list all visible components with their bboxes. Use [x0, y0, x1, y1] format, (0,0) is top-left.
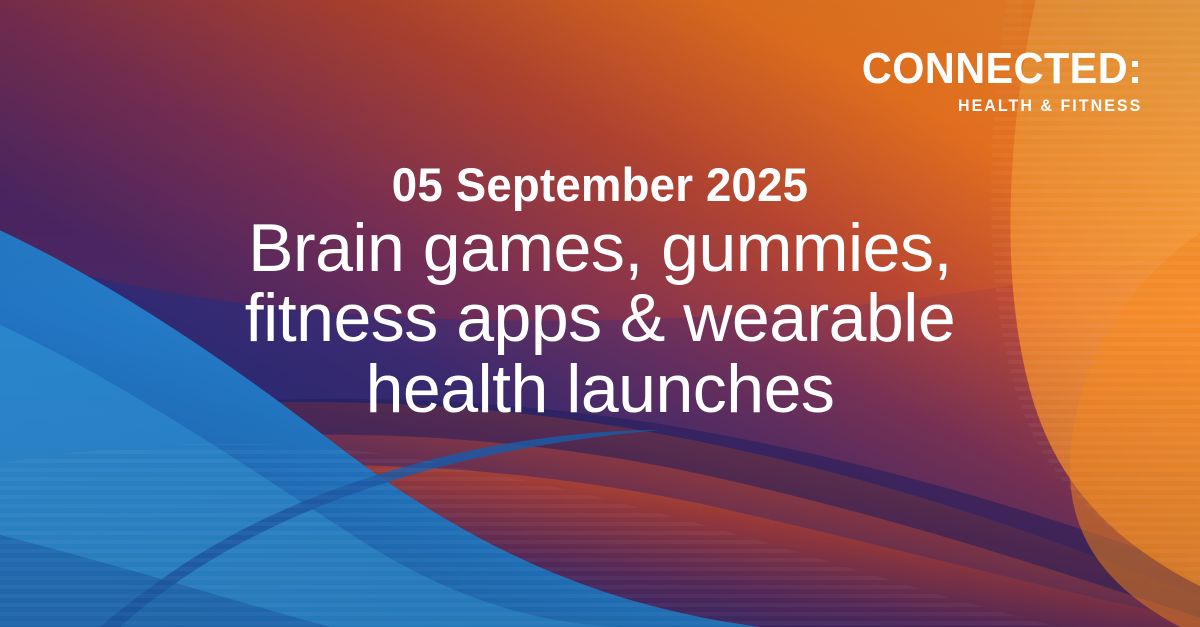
- promo-banner: CONNECTED: HEALTH & FITNESS 05 September…: [0, 0, 1200, 627]
- brand-logo-name: CONNECTED:: [862, 48, 1142, 90]
- brand-logo: CONNECTED: HEALTH & FITNESS: [844, 48, 1142, 116]
- brand-logo-tagline: HEALTH & FITNESS: [853, 97, 1142, 116]
- publish-date: 05 September 2025: [18, 160, 1182, 211]
- headline-block: 05 September 2025 Brain games, gummies, …: [0, 160, 1200, 425]
- headline-line-2: fitness apps & wearable: [0, 283, 1200, 354]
- page-title: Brain games, gummies, fitness apps & wea…: [0, 213, 1200, 425]
- headline-line-3: health launches: [0, 354, 1200, 425]
- headline-line-1: Brain games, gummies,: [0, 213, 1200, 284]
